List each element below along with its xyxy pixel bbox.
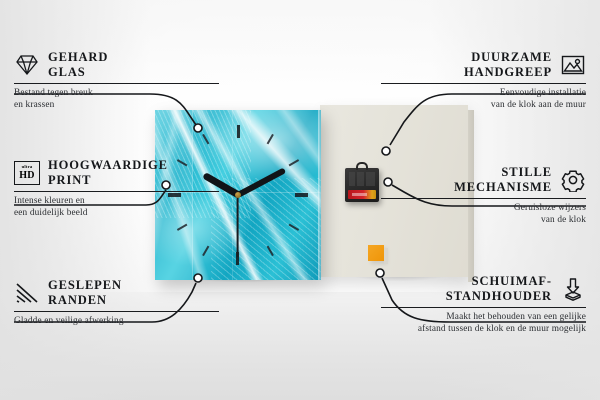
feature-description: Gladde en veilige afwerking [14,316,219,328]
feature-stille-mechanisme: STILLE MECHANISME Geruisloze wijzers van… [381,165,586,226]
feature-header: GESLEPEN RANDEN [14,278,219,308]
feature-gehard-glas: GEHARD GLAS Bestand tegen breuk en krass… [14,50,219,111]
feature-description: Geruisloze wijzers van de klok [381,203,586,226]
feature-divider [381,307,586,308]
feature-schuimaf-standhouder: SCHUIMAF- STANDHOUDER Maakt het behouden… [381,274,586,335]
picture-frame-icon [560,53,586,77]
down-arrow-pad-icon [560,277,586,301]
feature-divider [14,83,219,84]
feature-duurzame-handgreep: DUURZAME HANDGREEP Eenvoudige installati… [381,50,586,111]
feature-description: Eenvoudige installatie van de klok aan d… [381,88,586,111]
feature-divider [14,311,219,312]
feature-hoogwaardige-print: ultra HD HOOGWAARDIGE PRINT Intense kleu… [14,158,219,219]
bevel-lines-icon [14,281,40,305]
feature-header: DUURZAME HANDGREEP [381,50,586,80]
product-feature-infographic: GEHARD GLAS Bestand tegen breuk en krass… [0,0,600,400]
feature-title: GEHARD GLAS [48,50,108,80]
ultra-hd-icon: ultra HD [14,161,40,185]
diamond-icon [14,53,40,77]
feature-header: SCHUIMAF- STANDHOUDER [381,274,586,304]
feature-header: ultra HD HOOGWAARDIGE PRINT [14,158,219,188]
feature-header: STILLE MECHANISME [381,165,586,195]
feature-title: STILLE MECHANISME [454,165,552,195]
feature-geslepen-randen: GESLEPEN RANDEN Gladde en veilige afwerk… [14,278,219,328]
feature-divider [381,83,586,84]
feature-description: Maakt het behouden van een gelijke afsta… [381,312,586,335]
feature-divider [381,198,586,199]
gear-icon [560,168,586,192]
ultra-hd-icon-main-label: HD [19,171,35,181]
feature-title: HOOGWAARDIGE PRINT [48,158,168,188]
feature-header: GEHARD GLAS [14,50,219,80]
feature-title: SCHUIMAF- STANDHOUDER [446,274,552,304]
feature-title: DUURZAME HANDGREEP [464,50,552,80]
feature-divider [14,191,219,192]
feature-description: Bestand tegen breuk en krassen [14,88,219,111]
feature-description: Intense kleuren en een duidelijk beeld [14,196,219,219]
feature-title: GESLEPEN RANDEN [48,278,122,308]
